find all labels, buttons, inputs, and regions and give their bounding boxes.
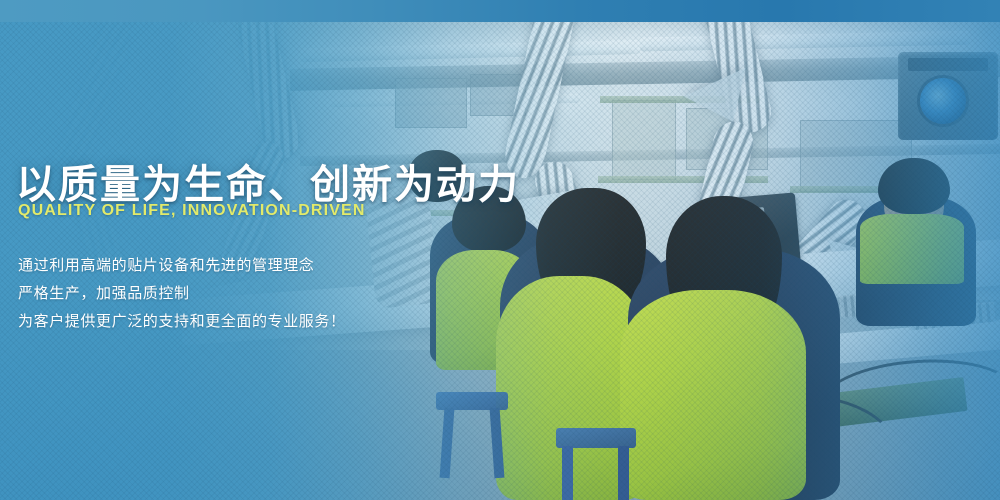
banner-description: 通过利用高端的贴片设备和先进的管理理念 严格生产，加强品质控制 为客户提供更广泛… bbox=[18, 252, 346, 336]
description-line: 严格生产，加强品质控制 bbox=[18, 280, 346, 308]
description-line: 通过利用高端的贴片设备和先进的管理理念 bbox=[18, 252, 346, 280]
description-line: 为客户提供更广泛的支持和更全面的专业服务！ bbox=[18, 308, 346, 336]
banner-content: 以质量为生命、创新为动力 QUALITY OF LIFE, INNOVATION… bbox=[16, 0, 636, 500]
hero-banner: 以质量为生命、创新为动力 QUALITY OF LIFE, INNOVATION… bbox=[0, 0, 1000, 500]
banner-tagline: QUALITY OF LIFE, INNOVATION-DRIVEN bbox=[18, 202, 366, 220]
